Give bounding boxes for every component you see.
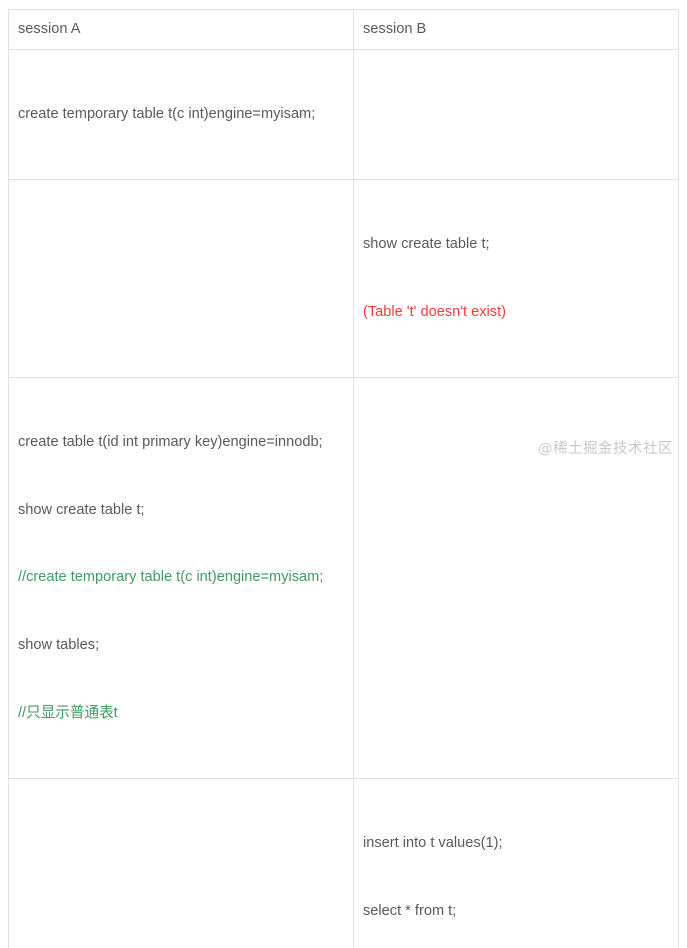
cell-session-b-step-4: insert into t values(1); select * from t… <box>354 778 679 948</box>
table-header-row: session A session B <box>9 10 679 50</box>
sql-line: show create table t; <box>363 233 668 256</box>
cell-session-b-step-2: show create table t; (Table 't' doesn't … <box>354 179 679 377</box>
table-row: insert into t values(1); select * from t… <box>9 778 679 948</box>
session-comparison-table: session A session B create temporary tab… <box>8 9 679 948</box>
sql-comment-line: //只显示普通表t <box>18 702 343 725</box>
sql-comment-line: //create temporary table t(c int)engine=… <box>18 566 343 589</box>
cell-session-a-step-3: create table t(id int primary key)engine… <box>9 377 354 778</box>
table-row: show create table t; (Table 't' doesn't … <box>9 179 679 377</box>
sql-line: insert into t values(1); <box>363 832 668 855</box>
cell-session-b-step-1 <box>354 49 679 179</box>
sql-line: create table t(id int primary key)engine… <box>18 431 343 454</box>
cell-session-a-step-2 <box>9 179 354 377</box>
table-body: session A session B create temporary tab… <box>9 10 679 948</box>
table-row: create table t(id int primary key)engine… <box>9 377 679 778</box>
sql-line: show tables; <box>18 634 343 657</box>
cell-session-b-step-3 <box>354 377 679 778</box>
sql-error-line: (Table 't' doesn't exist) <box>363 301 668 324</box>
column-header-session-b-label: session B <box>363 18 668 41</box>
column-header-session-a: session A <box>9 10 354 50</box>
column-header-session-b: session B <box>354 10 679 50</box>
cell-session-a-step-1: create temporary table t(c int)engine=my… <box>9 49 354 179</box>
column-header-session-a-label: session A <box>18 18 343 41</box>
session-comparison-table-container: session A session B create temporary tab… <box>8 9 678 948</box>
sql-line: show create table t; <box>18 499 343 522</box>
sql-line: select * from t; <box>363 900 668 923</box>
table-row: create temporary table t(c int)engine=my… <box>9 49 679 179</box>
sql-line: create temporary table t(c int)engine=my… <box>18 103 343 126</box>
cell-session-a-step-4 <box>9 778 354 948</box>
